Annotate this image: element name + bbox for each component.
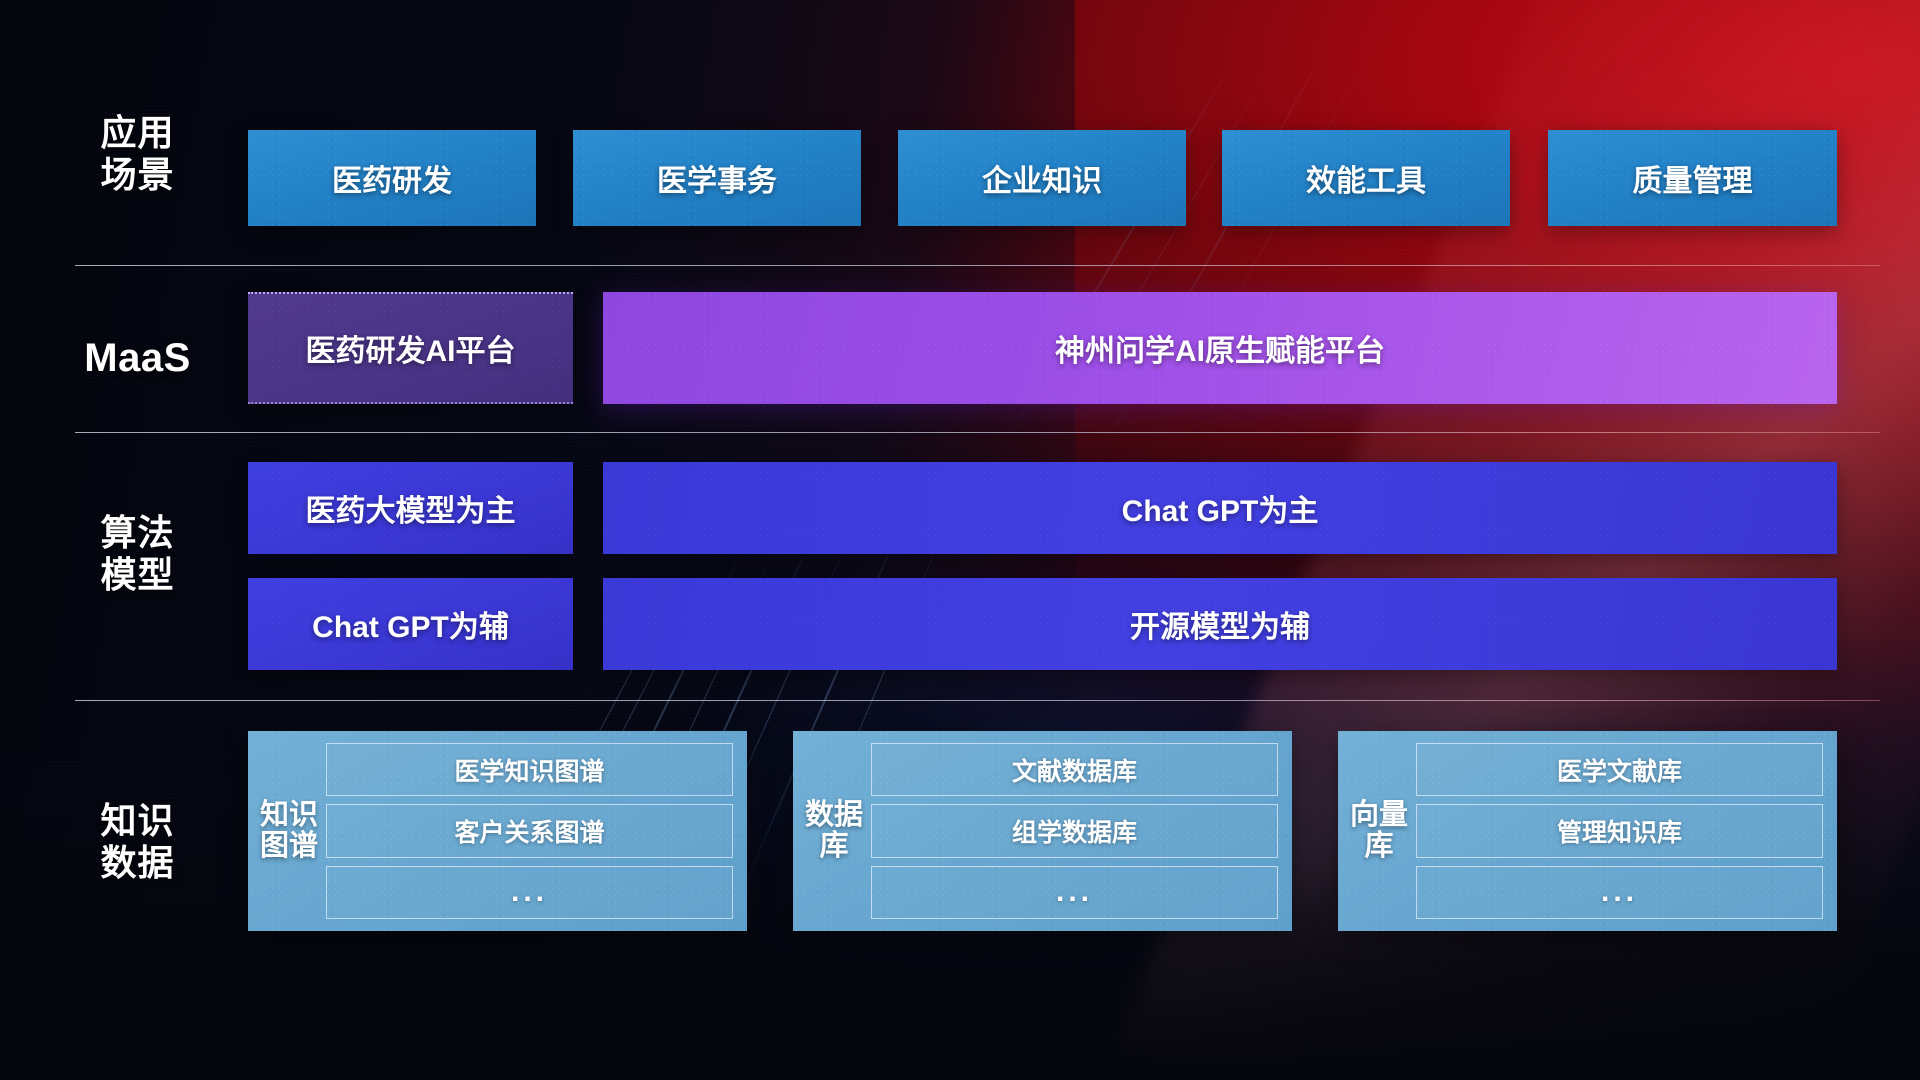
knowledge-panel-database[interactable]: 数据库 文献数据库 组学数据库 ... — [793, 731, 1292, 931]
maas-box-label: 神州问学AI原生赋能平台 — [1055, 326, 1385, 370]
divider-after-algorithm-model — [75, 700, 1880, 701]
row-label-line: 模型 — [75, 554, 200, 596]
knowledge-item-literature-database[interactable]: 文献数据库 — [871, 743, 1278, 796]
row-label-algorithm-model: 算法 模型 — [75, 512, 200, 597]
row-label-line: 场景 — [75, 154, 200, 196]
row-label-line: 算法 — [75, 512, 200, 554]
app-box-enterprise-knowledge[interactable]: 企业知识 — [898, 130, 1186, 226]
knowledge-panel-item-list: 医学文献库 管理知识库 ... — [1410, 743, 1823, 919]
algo-box-label: Chat GPT为辅 — [312, 602, 509, 646]
architecture-diagram: 应用 场景 医药研发 医学事务 企业知识 效能工具 质量管理 MaaS 医药研发… — [0, 0, 1920, 1080]
app-box-label: 质量管理 — [1633, 156, 1753, 200]
algo-box-opensource-secondary[interactable]: 开源模型为辅 — [603, 578, 1837, 670]
app-box-label: 企业知识 — [982, 156, 1102, 200]
knowledge-item-medical-knowledge-graph[interactable]: 医学知识图谱 — [326, 743, 733, 796]
knowledge-panel-title: 知识图谱 — [258, 743, 320, 919]
knowledge-item-more[interactable]: ... — [871, 866, 1278, 919]
algo-box-chatgpt-primary[interactable]: Chat GPT为主 — [603, 462, 1837, 554]
knowledge-item-omics-database[interactable]: 组学数据库 — [871, 804, 1278, 857]
knowledge-item-more[interactable]: ... — [1416, 866, 1823, 919]
knowledge-item-management-knowledge-store[interactable]: 管理知识库 — [1416, 804, 1823, 857]
row-label-knowledge-data: 知识 数据 — [75, 800, 200, 885]
app-box-label: 效能工具 — [1306, 156, 1426, 200]
algo-box-pharma-llm-primary[interactable]: 医药大模型为主 — [248, 462, 573, 554]
divider-after-application-scenarios — [75, 265, 1880, 266]
row-label-line: 知识 — [75, 800, 200, 842]
row-label-maas: MaaS — [75, 335, 200, 382]
knowledge-panel-vector-store[interactable]: 向量库 医学文献库 管理知识库 ... — [1338, 731, 1837, 931]
knowledge-panel-knowledge-graph[interactable]: 知识图谱 医学知识图谱 客户关系图谱 ... — [248, 731, 747, 931]
knowledge-panel-item-list: 文献数据库 组学数据库 ... — [865, 743, 1278, 919]
row-label-line: MaaS — [75, 335, 200, 382]
app-box-label: 医药研发 — [332, 156, 452, 200]
algo-box-label: Chat GPT为主 — [1122, 486, 1319, 530]
app-box-efficiency-tools[interactable]: 效能工具 — [1222, 130, 1510, 226]
row-label-application-scenarios: 应用 场景 — [75, 112, 200, 197]
algo-box-label: 医药大模型为主 — [306, 486, 516, 530]
divider-after-maas — [75, 432, 1880, 433]
maas-box-pharma-ai-platform[interactable]: 医药研发AI平台 — [248, 292, 573, 404]
knowledge-item-more[interactable]: ... — [326, 866, 733, 919]
maas-box-shenzhou-wenxue-platform[interactable]: 神州问学AI原生赋能平台 — [603, 292, 1837, 404]
app-box-medical-rnd[interactable]: 医药研发 — [248, 130, 536, 226]
knowledge-item-customer-relation-graph[interactable]: 客户关系图谱 — [326, 804, 733, 857]
row-label-line: 数据 — [75, 842, 200, 884]
app-box-medical-affairs[interactable]: 医学事务 — [573, 130, 861, 226]
app-box-quality-management[interactable]: 质量管理 — [1548, 130, 1837, 226]
app-box-label: 医学事务 — [657, 156, 777, 200]
algo-box-label: 开源模型为辅 — [1130, 602, 1310, 646]
row-label-line: 应用 — [75, 112, 200, 154]
knowledge-panel-item-list: 医学知识图谱 客户关系图谱 ... — [320, 743, 733, 919]
knowledge-item-medical-literature-store[interactable]: 医学文献库 — [1416, 743, 1823, 796]
algo-box-chatgpt-secondary[interactable]: Chat GPT为辅 — [248, 578, 573, 670]
maas-box-label: 医药研发AI平台 — [306, 326, 516, 370]
knowledge-panel-title: 数据库 — [803, 743, 865, 919]
knowledge-panel-title: 向量库 — [1348, 743, 1410, 919]
